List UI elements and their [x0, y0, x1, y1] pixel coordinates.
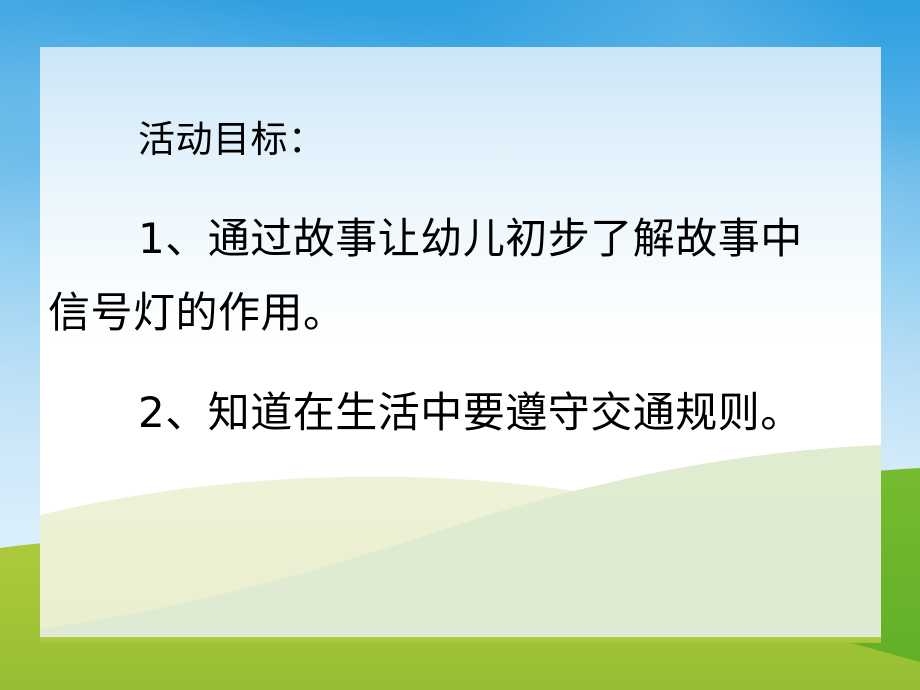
slide-canvas: 活动目标： 1、通过故事让幼儿初步了解故事中 信号灯的作用。 2、知道在生活中要… — [0, 0, 920, 690]
page-title: 活动目标： — [138, 109, 326, 163]
objective-line-2: 2、知道在生活中要遵守交通规则。 — [138, 379, 803, 440]
content-card: 活动目标： 1、通过故事让幼儿初步了解故事中 信号灯的作用。 2、知道在生活中要… — [40, 47, 881, 643]
objective-line-1: 1、通过故事让幼儿初步了解故事中 — [138, 205, 803, 266]
objective-line-1-cont: 信号灯的作用。 — [48, 279, 346, 340]
slide-text-block: 活动目标： 1、通过故事让幼儿初步了解故事中 信号灯的作用。 2、知道在生活中要… — [40, 47, 881, 643]
